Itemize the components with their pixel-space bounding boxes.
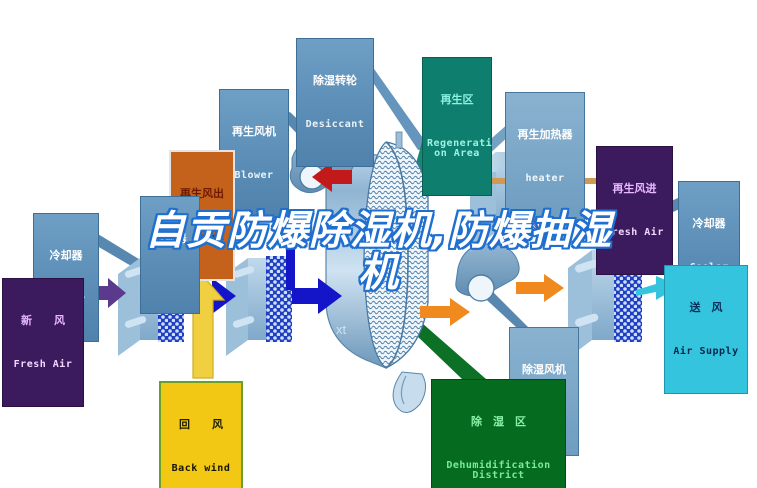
label-dehum-blower-cn: 除湿风机 bbox=[514, 364, 574, 376]
label-regen-heater-en: heater bbox=[510, 174, 580, 185]
cooler-coil-mid bbox=[226, 256, 292, 356]
flow-vertical-blue bbox=[286, 236, 295, 282]
label-fresh-air-cn: 新 风 bbox=[7, 315, 79, 327]
flow-blower-to-coil bbox=[516, 274, 564, 302]
label-regen-heater: 再生加热器 heater bbox=[505, 92, 585, 221]
label-back-wind-en: Back wind bbox=[165, 464, 237, 475]
label-air-supply: 送 风 Air Supply bbox=[664, 265, 748, 394]
label-regen-fresh-air: 再生风进 Fresh Air bbox=[596, 146, 673, 275]
label-air-supply-cn: 送 风 bbox=[669, 302, 743, 314]
label-air-supply-en: Air Supply bbox=[669, 347, 743, 358]
label-regen-area-cn: 再生区 bbox=[427, 94, 487, 106]
label-dehum-district-cn: 除 湿 区 bbox=[436, 416, 561, 428]
label-regen-fresh-air-cn: 再生风进 bbox=[601, 183, 668, 195]
label-regen-fresh-air-en: Fresh Air bbox=[601, 228, 668, 239]
label-cooler-right-cn: 冷却器 bbox=[683, 218, 735, 230]
label-regen-blower-cn: 再生风机 bbox=[224, 126, 284, 138]
label-regen-area: 再生区 Regenerati on Area bbox=[422, 57, 492, 196]
label-desiccant-rotor-en: Desiccant bbox=[301, 120, 369, 131]
label-fresh-air-en: Fresh Air bbox=[7, 360, 79, 371]
dehumidifier-schematic: xt 除湿转轮 Desiccant 再生风机 Blower 再生区 Regene… bbox=[0, 0, 757, 488]
label-cooler-left-cn: 冷却器 bbox=[38, 250, 94, 262]
label-back-wind: 回 风 Back wind bbox=[159, 381, 243, 488]
label-desiccant-rotor: 除湿转轮 Desiccant bbox=[296, 38, 374, 167]
label-cooler-mid: 冷却器 bbox=[140, 196, 200, 314]
faint-watermark: xt bbox=[336, 322, 346, 337]
label-back-wind-cn: 回 风 bbox=[165, 419, 237, 431]
label-fresh-air: 新 风 Fresh Air bbox=[2, 278, 84, 407]
label-dehum-district-en: Dehumidification District bbox=[436, 461, 561, 482]
label-dehum-district: 除 湿 区 Dehumidification District bbox=[431, 379, 566, 488]
label-regen-heater-cn: 再生加热器 bbox=[510, 129, 580, 141]
label-cooler-mid-cn: 冷却器 bbox=[145, 233, 195, 245]
label-desiccant-rotor-cn: 除湿转轮 bbox=[301, 75, 369, 87]
label-regen-area-en: Regenerati on Area bbox=[427, 139, 487, 160]
